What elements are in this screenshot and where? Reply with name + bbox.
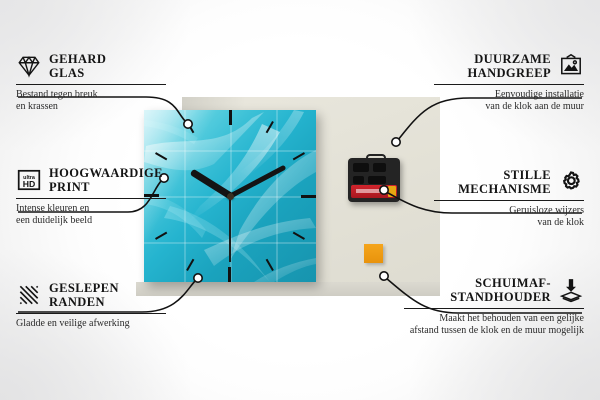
mechanism-body [348, 158, 400, 202]
press-down-pad-icon [558, 277, 584, 303]
feature-title-line2: PRINT [49, 180, 163, 194]
feature-title: HOOGWAARDIGE [49, 166, 163, 180]
feature-stille-mechanisme: STILLE MECHANISME Geruisloze wijzers van… [434, 168, 584, 229]
picture-frame-hanger-icon [558, 53, 584, 79]
clock-mechanism [348, 154, 400, 202]
feature-title: GEHARD [49, 52, 106, 66]
mechanism-battery [351, 185, 397, 198]
clock-center-hub [227, 193, 234, 200]
feature-desc-line2: van de klok aan de muur [434, 101, 584, 113]
feature-title-line2: HANDGREEP [468, 66, 551, 80]
ultra-hd-icon: ultra HD [16, 167, 42, 193]
feature-desc-line2: afstand tussen de klok en de muur mogeli… [404, 325, 584, 337]
feature-title: GESLEPEN [49, 281, 119, 295]
feature-title-line2: RANDEN [49, 295, 119, 309]
svg-text:HD: HD [23, 179, 36, 189]
gear-icon [558, 169, 584, 195]
diamond-icon [16, 53, 42, 79]
feature-rule [16, 198, 166, 199]
feature-desc-line2: van de klok [434, 217, 584, 229]
feature-rule [434, 200, 584, 201]
feature-hoogwaardige-print: ultra HD HOOGWAARDIGE PRINT Intense kleu… [16, 166, 166, 227]
beveled-edges-icon [16, 282, 42, 308]
floor-strip [136, 282, 440, 296]
wall-clock [144, 110, 316, 282]
feature-rule [16, 84, 166, 85]
feature-rule [16, 313, 166, 314]
feature-desc-line2: een duidelijk beeld [16, 215, 166, 227]
feature-title-line2: GLAS [49, 66, 106, 80]
feature-schuimaf-standhouder: SCHUIMAF- STANDHOUDER Maakt het behouden… [404, 276, 584, 337]
feature-title: SCHUIMAF- [450, 276, 551, 290]
feature-desc-line1: Geruisloze wijzers [434, 205, 584, 217]
feature-geslepen-randen: GESLEPEN RANDEN Gladde en veilige afwerk… [16, 281, 166, 330]
feature-title-line2: MECHANISME [458, 182, 551, 196]
feature-desc-line1: Gladde en veilige afwerking [16, 318, 166, 330]
feature-rule [404, 308, 584, 309]
foam-spacer-pad [364, 244, 383, 263]
feature-desc-line1: Intense kleuren en [16, 203, 166, 215]
product-photo [136, 92, 440, 296]
feature-title-line2: STANDHOUDER [450, 290, 551, 304]
feature-title: STILLE [458, 168, 551, 182]
feature-desc-line2: en krassen [16, 101, 166, 113]
feature-desc-line1: Bestand tegen breuk [16, 89, 166, 101]
feature-title: DUURZAME [468, 52, 551, 66]
clock-second-hand [229, 196, 231, 262]
feature-duurzame-handgreep: DUURZAME HANDGREEP Eenvoudige installati… [434, 52, 584, 113]
feature-desc-line1: Eenvoudige installatie [434, 89, 584, 101]
infographic-canvas: GEHARD GLAS Bestand tegen breuk en krass… [0, 0, 600, 400]
feature-desc-line1: Maakt het behouden van een gelijke [404, 313, 584, 325]
feature-gehard-glas: GEHARD GLAS Bestand tegen breuk en krass… [16, 52, 166, 113]
feature-rule [434, 84, 584, 85]
